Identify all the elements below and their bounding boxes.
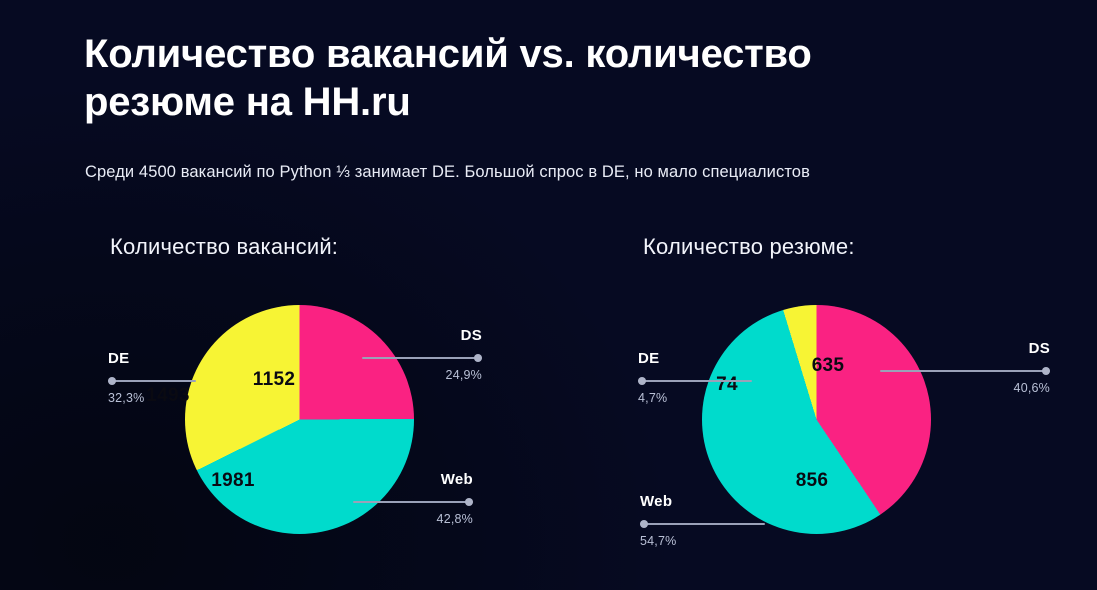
leader-dot [108, 377, 116, 385]
pie-slice-value-de: 74 [716, 374, 738, 396]
leader-dot [640, 520, 648, 528]
leader-line [108, 380, 196, 382]
callout-percent: 24,9% [446, 368, 482, 382]
slide-subtitle: Среди 4500 вакансий по Python ⅓ занимает… [85, 163, 985, 182]
callout-percent: 32,3% [108, 391, 144, 405]
callout-percent: 40,6% [1014, 381, 1050, 395]
leader-dot [638, 377, 646, 385]
chart-heading-vacancies: Количество вакансий: [110, 234, 338, 260]
chart-heading-resumes: Количество резюме: [643, 234, 855, 260]
pie-slices-resumes [702, 305, 931, 534]
pie-slice-value-ds: 635 [812, 355, 845, 377]
slide-canvas: Количество вакансий vs. количество резюм… [0, 0, 1097, 590]
leader-line [362, 357, 482, 359]
pie-slice-value-web: 856 [796, 470, 829, 492]
pie-slice-value-de: 1493 [146, 385, 189, 407]
callout-percent: 54,7% [640, 534, 676, 548]
leader-dot [474, 354, 482, 362]
page-title: Количество вакансий vs. количество резюм… [84, 30, 944, 126]
callout-label: DS [461, 327, 482, 344]
pie-slice-value-web: 1981 [211, 470, 254, 492]
leader-line [880, 370, 1050, 372]
callout-label: DE [108, 350, 129, 367]
leader-line [353, 501, 473, 503]
pie-slice-value-ds: 1152 [253, 369, 295, 391]
callout-label: Web [640, 493, 672, 510]
pie-chart-vacancies: 1152 1981 1493 DE 32,3% DS 24,9% Web 42,… [110, 285, 530, 570]
callout-label: DE [638, 350, 659, 367]
leader-dot [1042, 367, 1050, 375]
callout-label: DS [1029, 340, 1050, 357]
callout-label: Web [441, 471, 473, 488]
pie-chart-resumes: 635 856 74 DE 4,7% DS 40,6% Web 54,7% [640, 285, 1060, 570]
pie-slices-vacancies [185, 305, 414, 534]
callout-percent: 42,8% [437, 512, 473, 526]
callout-percent: 4,7% [638, 391, 667, 405]
leader-line [640, 523, 765, 525]
leader-line [638, 380, 752, 382]
leader-dot [465, 498, 473, 506]
